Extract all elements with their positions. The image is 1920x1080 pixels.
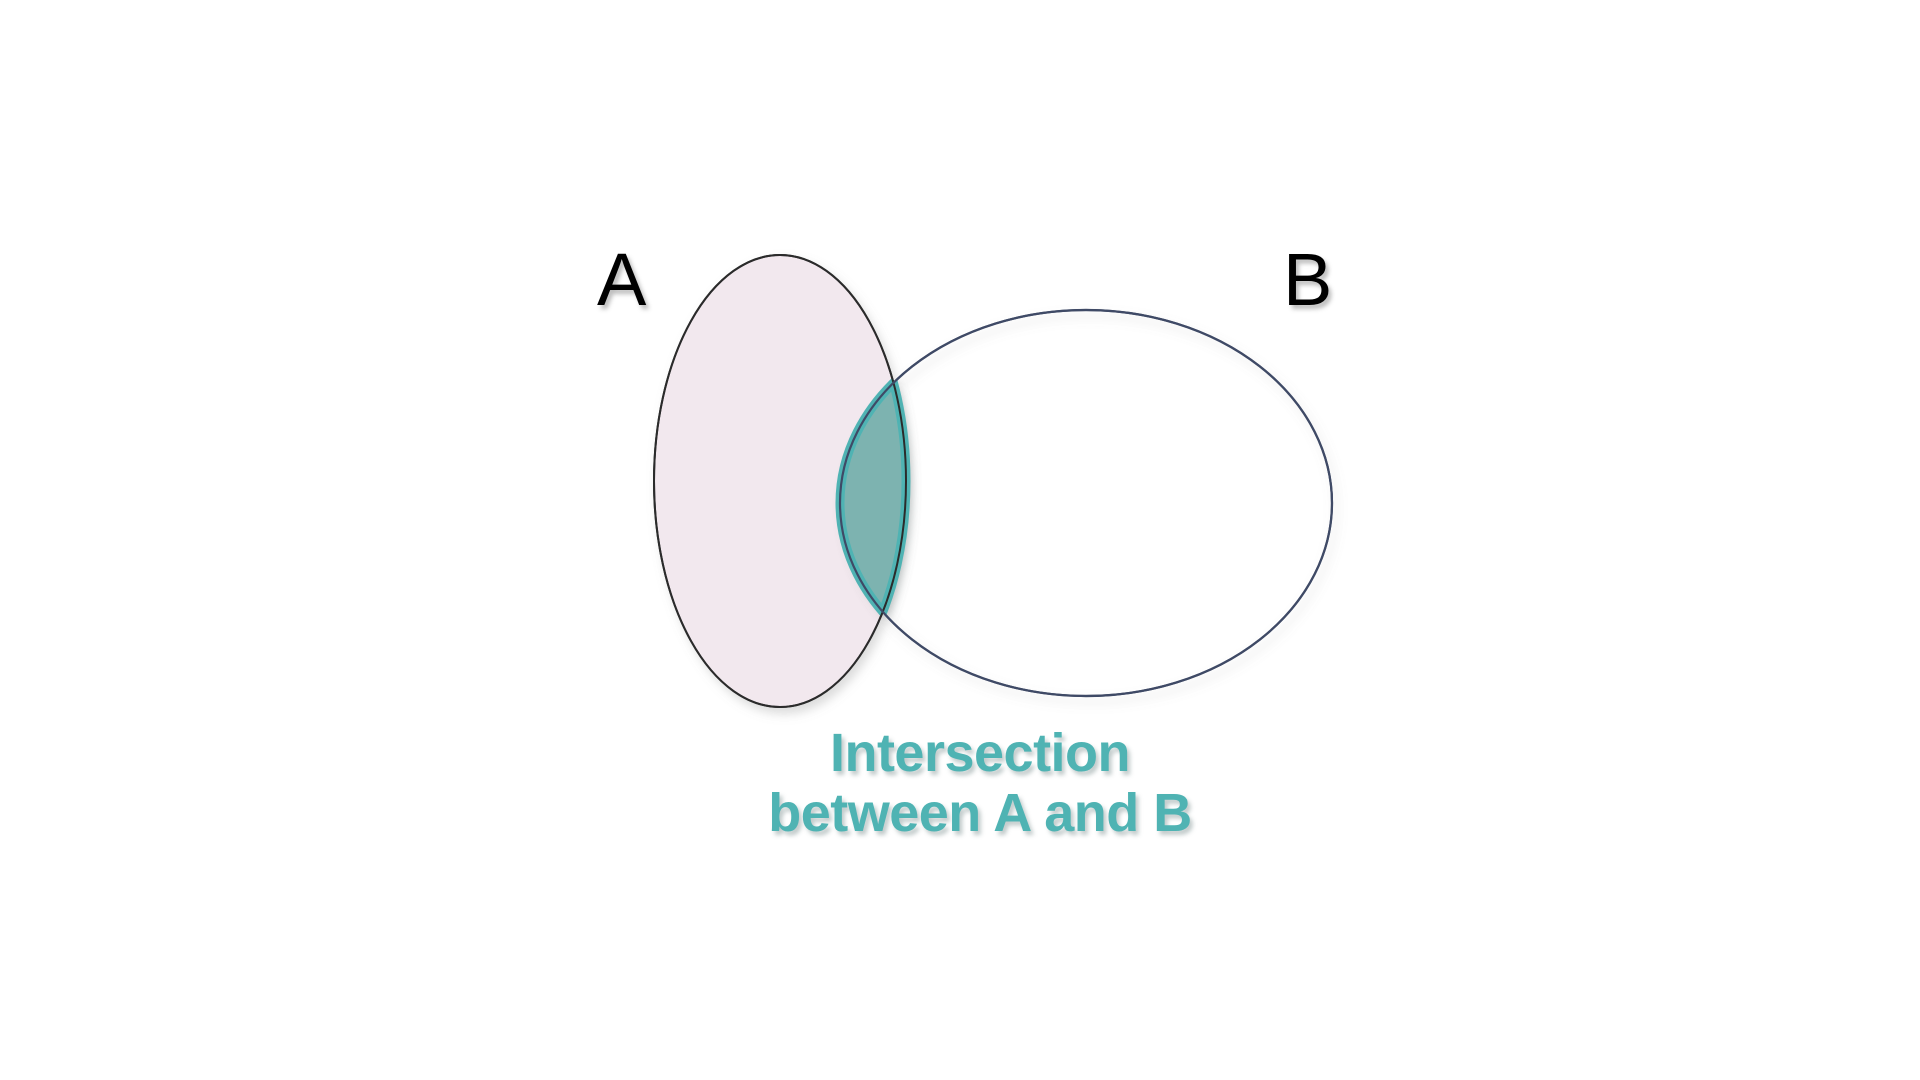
venn-svg [0,0,1920,1080]
caption-line-1: Intersection [560,723,1400,783]
caption-line-2: between A and B [560,783,1400,843]
set-b-ellipse [840,310,1332,696]
venn-diagram-canvas: A B Intersection between A and B [0,0,1920,1080]
set-a-label: A [597,243,646,317]
set-b-label: B [1283,243,1332,317]
diagram-caption: Intersection between A and B [560,723,1400,844]
